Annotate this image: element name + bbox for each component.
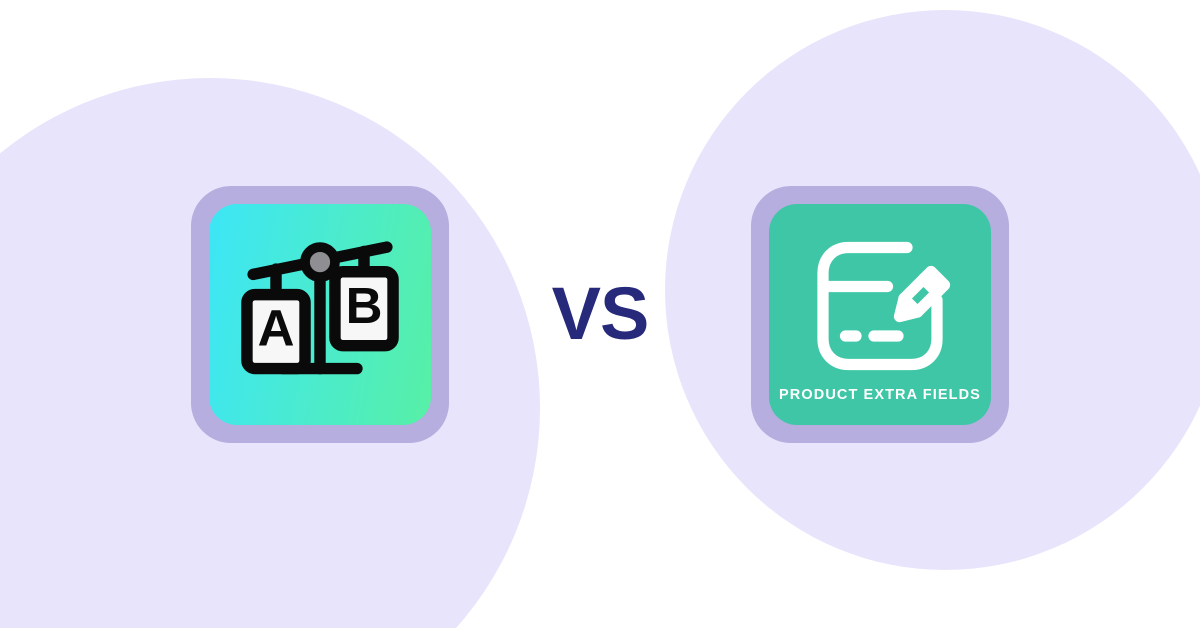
left-app-icon-tile: A B [209,204,431,425]
comparison-row: A B VS [0,0,1200,628]
vs-label: VS [552,277,649,351]
card-with-pencil-icon [805,231,955,381]
scale-plate-a-label: A [258,300,295,357]
scale-plate-b-label: B [346,277,383,334]
right-app-icon-frame[interactable]: PRODUCT EXTRA FIELDS [751,186,1009,443]
ab-balance-scale-icon: A B [232,226,408,402]
comparison-banner: A B VS [0,0,1200,628]
right-app-caption: PRODUCT EXTRA FIELDS [769,388,991,403]
left-app-slot: A B [110,186,530,443]
right-app-slot: PRODUCT EXTRA FIELDS [670,186,1090,443]
scale-pivot [305,247,335,277]
vs-divider: VS [530,277,670,351]
left-app-icon-frame[interactable]: A B [191,186,449,443]
right-app-icon-tile: PRODUCT EXTRA FIELDS [769,204,991,425]
